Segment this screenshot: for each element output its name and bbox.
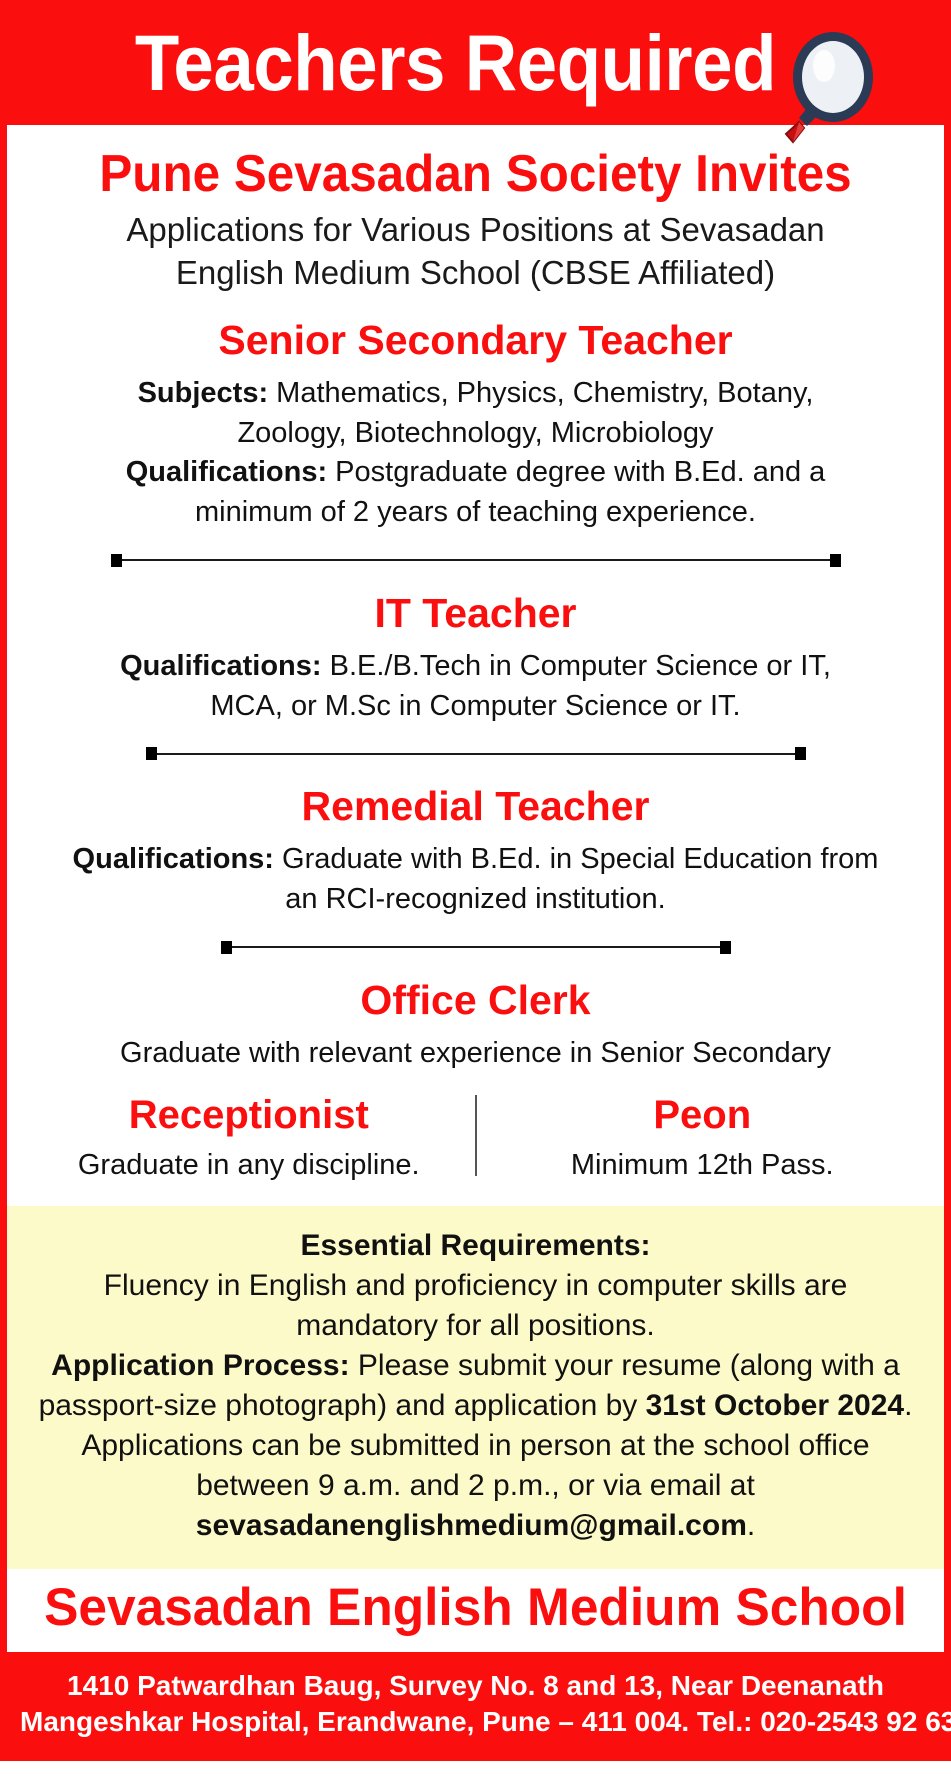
subheading-line-1: Applications for Various Positions at Se… — [23, 209, 928, 250]
qualifications-label-1: Qualifications: — [126, 456, 327, 488]
receptionist-detail: Graduate in any discipline. — [33, 1147, 465, 1185]
section-divider-3 — [23, 941, 928, 954]
address-line-1: 1410 Patwardhan Baug, Survey No. 8 and 1… — [20, 1668, 931, 1704]
footer-address-section: 1410 Patwardhan Baug, Survey No. 8 and 1… — [0, 1652, 951, 1761]
divider-cap-right — [830, 554, 841, 567]
organization-headline: Pune Sevasadan Society Invites — [46, 145, 906, 203]
email-line: sevasadanenglishmedium@gmail.com. — [31, 1506, 920, 1546]
position-subjects-line-1: Subjects: Mathematics, Physics, Chemistr… — [23, 375, 928, 413]
essential-requirements-section: Essential Requirements: Fluency in Engli… — [7, 1206, 944, 1569]
remedial-qualifications-line-2: an RCI-recognized institution. — [23, 881, 928, 919]
application-deadline: 31st October 2024 — [646, 1389, 904, 1422]
office-clerk-detail: Graduate with relevant experience in Sen… — [23, 1035, 928, 1073]
deadline-suffix: . — [904, 1389, 912, 1422]
remedial-qualifications-line-1: Qualifications: Graduate with B.Ed. in S… — [23, 841, 928, 879]
divider-cap-left — [111, 554, 122, 567]
application-process-label: Application Process: — [51, 1349, 349, 1382]
deadline-prefix: passport-size photograph) and applicatio… — [39, 1389, 646, 1422]
header-banner: Teachers Required — [0, 0, 951, 125]
divider-cap-left — [221, 941, 232, 954]
position-title-receptionist: Receptionist — [33, 1091, 465, 1139]
position-title-it-teacher: IT Teacher — [23, 589, 928, 638]
subjects-value-1: Mathematics, Physics, Chemistry, Botany, — [268, 377, 813, 409]
application-process-value: Please submit your resume (along with a — [350, 1349, 900, 1382]
position-title-peon: Peon — [487, 1091, 919, 1139]
position-qualifications-line-1: Qualifications: Postgraduate degree with… — [23, 454, 928, 492]
subheading-line-2: English Medium School (CBSE Affiliated) — [23, 252, 928, 293]
job-advertisement: Teachers Required Pune Sevasadan Society… — [0, 0, 951, 1779]
peon-detail: Minimum 12th Pass. — [487, 1147, 919, 1185]
it-qualifications-line-2: MCA, or M.Sc in Computer Science or IT. — [23, 688, 928, 726]
two-column-positions: Receptionist Graduate in any discipline.… — [23, 1091, 928, 1187]
section-divider-1 — [23, 554, 928, 567]
divider-cap-right — [795, 747, 806, 760]
application-process-line-2: passport-size photograph) and applicatio… — [31, 1386, 920, 1426]
qualifications-label-2: Qualifications: — [120, 650, 321, 682]
essential-line-2: mandatory for all positions. — [31, 1306, 920, 1346]
position-qualifications-line-2: minimum of 2 years of teaching experienc… — [23, 494, 928, 532]
qualifications-label-3: Qualifications: — [73, 843, 274, 875]
essential-line-1: Fluency in English and proficiency in co… — [31, 1266, 920, 1306]
school-name: Sevasadan English Medium School — [21, 1579, 930, 1637]
divider-cap-left — [146, 747, 157, 760]
subjects-label: Subjects: — [138, 377, 269, 409]
it-qualifications-value: B.E./B.Tech in Computer Science or IT, — [322, 650, 831, 682]
contact-email[interactable]: sevasadanenglishmedium@gmail.com — [196, 1509, 747, 1542]
column-peon: Peon Minimum 12th Pass. — [477, 1091, 929, 1187]
column-receptionist: Receptionist Graduate in any discipline. — [23, 1091, 475, 1187]
address-line-2: Mangeshkar Hospital, Erandwane, Pune – 4… — [20, 1704, 931, 1740]
page-title: Teachers Required — [135, 23, 776, 102]
it-qualifications-line-1: Qualifications: B.E./B.Tech in Computer … — [23, 648, 928, 686]
submission-line-2: between 9 a.m. and 2 p.m., or via email … — [31, 1466, 920, 1506]
essential-requirements-heading: Essential Requirements: — [31, 1226, 920, 1266]
remedial-qualifications-value: Graduate with B.Ed. in Special Education… — [274, 843, 878, 875]
section-divider-2 — [23, 747, 928, 760]
position-subjects-line-2: Zoology, Biotechnology, Microbiology — [23, 415, 928, 453]
school-name-section: Sevasadan English Medium School — [7, 1569, 944, 1651]
email-period: . — [747, 1509, 755, 1542]
position-title-senior-secondary-teacher: Senior Secondary Teacher — [23, 316, 928, 365]
positions-section: Pune Sevasadan Society Invites Applicati… — [7, 125, 944, 1206]
application-process-line-1: Application Process: Please submit your … — [31, 1346, 920, 1386]
qualifications-value-1: Postgraduate degree with B.Ed. and a — [327, 456, 825, 488]
divider-cap-right — [720, 941, 731, 954]
ad-body-frame: Pune Sevasadan Society Invites Applicati… — [0, 125, 951, 1652]
position-title-office-clerk: Office Clerk — [23, 976, 928, 1025]
position-title-remedial-teacher: Remedial Teacher — [23, 782, 928, 831]
submission-line-1: Applications can be submitted in person … — [31, 1426, 920, 1466]
